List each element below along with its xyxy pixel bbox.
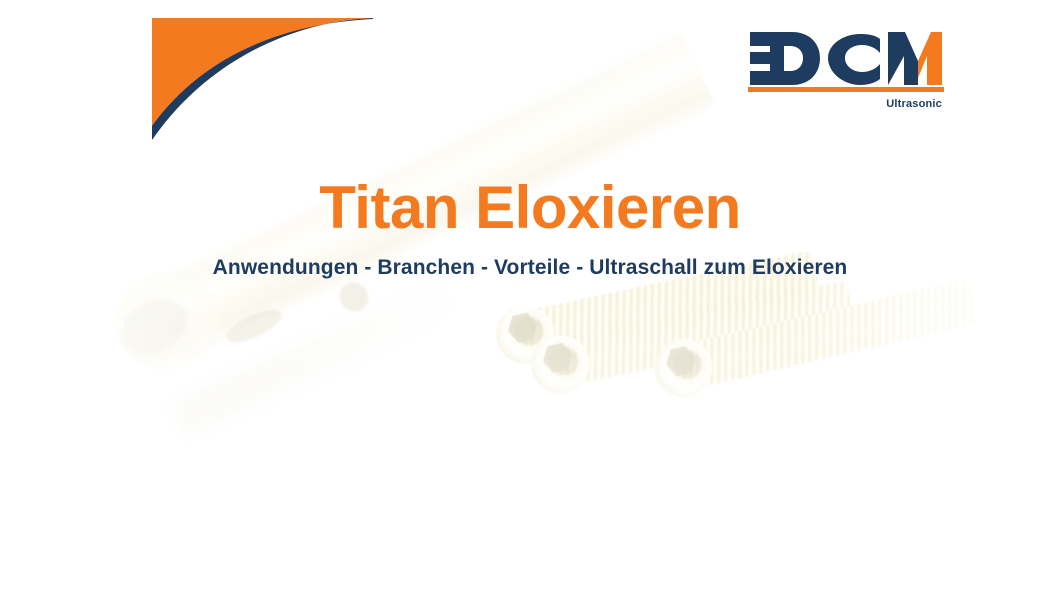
dcm-letter-d bbox=[750, 32, 820, 85]
screw-head bbox=[491, 300, 560, 369]
dcm-letter-m-orange bbox=[918, 32, 942, 85]
titanium-rod-slot-shape bbox=[222, 303, 286, 348]
corner-swoosh-icon bbox=[140, 18, 380, 144]
screw-head bbox=[649, 333, 719, 403]
dcm-letter-m-blue bbox=[888, 32, 918, 85]
screw-hex-socket bbox=[663, 343, 699, 379]
page-title: Titan Eloxieren bbox=[0, 176, 1060, 239]
titanium-rod-hole-shape bbox=[335, 277, 373, 316]
dcm-logo[interactable]: Ultrasonic bbox=[748, 30, 944, 108]
corner-swoosh-svg bbox=[140, 18, 380, 144]
page-subtitle: Anwendungen - Branchen - Vorteile - Ultr… bbox=[0, 255, 1060, 280]
screw-thread-shaft bbox=[675, 279, 978, 391]
dcm-logo-tagline: Ultrasonic bbox=[886, 99, 942, 110]
dcm-logo-mark-svg bbox=[748, 30, 944, 94]
screw-head bbox=[526, 330, 595, 399]
screw-hex-socket bbox=[540, 340, 576, 376]
screw-thread-shaft bbox=[552, 280, 855, 387]
dcm-letter-c bbox=[828, 34, 880, 85]
titanium-rod-shadow bbox=[171, 279, 457, 437]
swoosh-orange-shape bbox=[152, 18, 372, 140]
dcm-logo-underline-bar bbox=[748, 87, 944, 92]
screw-hex-socket bbox=[505, 310, 541, 346]
hero-banner: Ultrasonic Titan Eloxieren Anwendungen -… bbox=[0, 0, 1060, 599]
headline-block: Titan Eloxieren Anwendungen - Branchen -… bbox=[0, 176, 1060, 280]
